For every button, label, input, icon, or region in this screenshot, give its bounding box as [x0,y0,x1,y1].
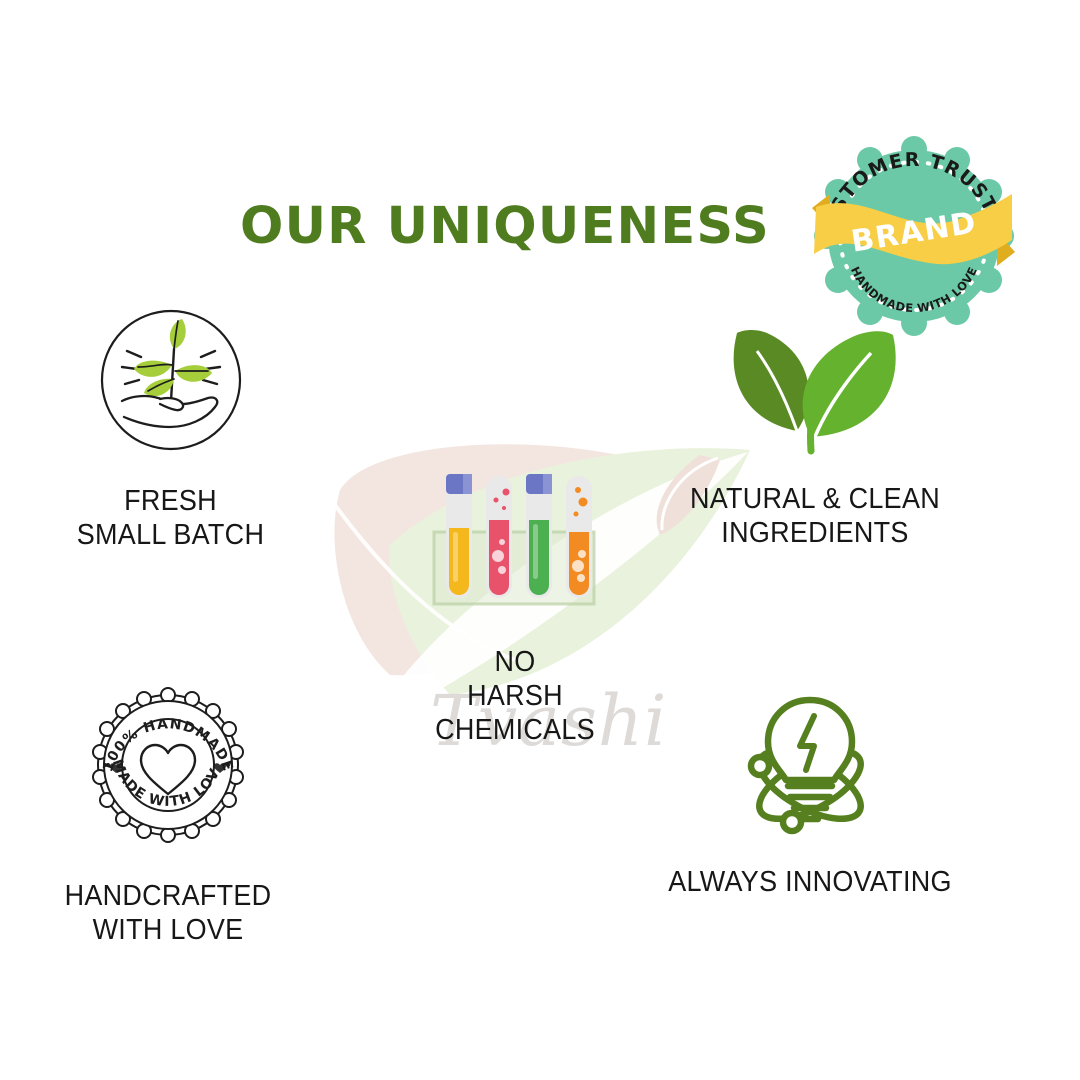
feature-label-chemicals: NO HARSH CHEMICALS [371,645,659,748]
trust-seal-icon: CUSTOMER TRUSTED HANDMADE WITH LOVE BRAN… [806,132,1021,337]
customer-trusted-brand-badge: CUSTOMER TRUSTED HANDMADE WITH LOVE BRAN… [806,132,1021,337]
test-tubes-rack-icon [360,470,670,635]
feature-natural-clean-ingredients: NATURAL & CLEAN INGREDIENTS [655,325,975,550]
two-leaves-icon [655,325,975,460]
feature-no-harsh-chemicals: NO HARSH CHEMICALS [360,470,670,748]
hand-holding-plant-icon [28,305,313,460]
infographic-canvas: Tvashi OUR UNIQUENESS [0,0,1080,1080]
feature-label-innovating: ALWAYS INNOVATING [652,865,968,899]
lightbulb-atom-icon [640,690,980,845]
feature-always-innovating: ALWAYS INNOVATING [640,690,980,899]
feature-label-natural: NATURAL & CLEAN INGREDIENTS [666,482,964,550]
feature-handcrafted-with-love: 100% HANDMADE MADE WITH LOVE HANDCRAFTED… [18,680,318,947]
feature-label-handcrafted: HANDCRAFTED WITH LOVE [29,879,308,947]
handmade-stamp-badge-icon: 100% HANDMADE MADE WITH LOVE [18,680,318,855]
feature-label-fresh: FRESH SMALL BATCH [38,484,303,552]
feature-fresh-small-batch: FRESH SMALL BATCH [28,305,313,552]
